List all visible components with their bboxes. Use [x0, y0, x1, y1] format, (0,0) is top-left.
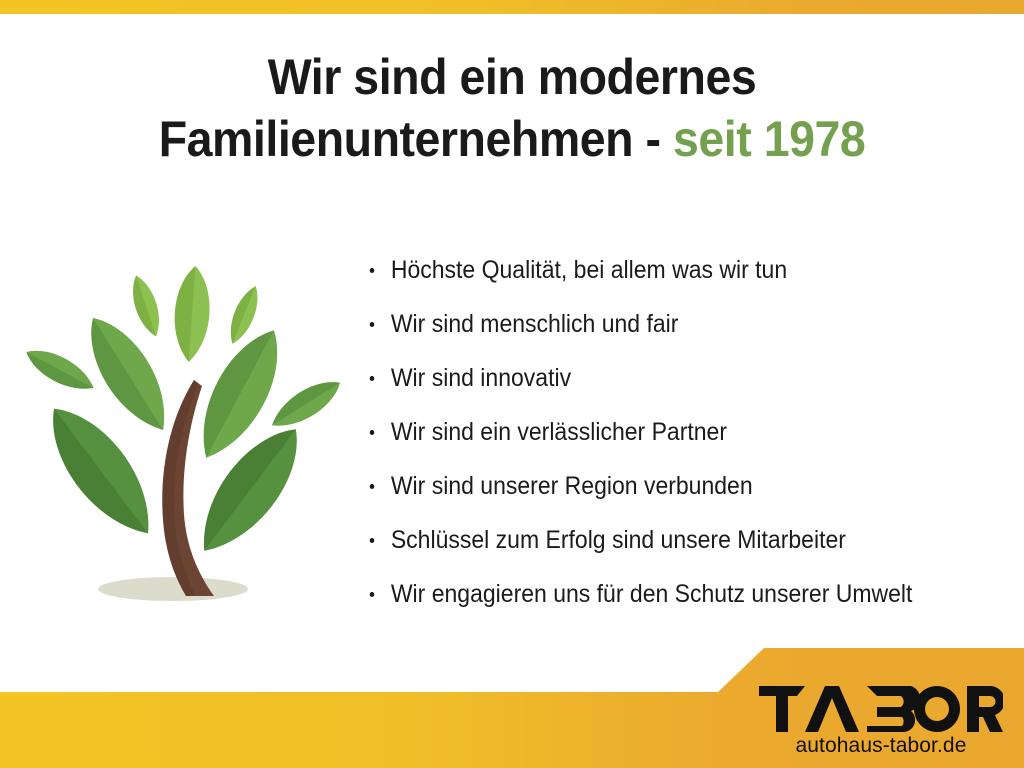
list-item: Wir engagieren uns für den Schutz unsere…	[366, 567, 964, 621]
footer-band: autohaus-tabor.de	[0, 640, 1024, 768]
list-item-label: Wir sind ein verlässlicher Partner	[391, 418, 727, 446]
list-item: Wir sind innovativ	[366, 351, 964, 405]
list-item: Wir sind ein verlässlicher Partner	[366, 405, 964, 459]
slide-canvas: Wir sind ein modernes Familienunternehme…	[0, 0, 1024, 768]
brand-website-url[interactable]: autohaus-tabor.de	[756, 734, 1006, 758]
list-item-label: Höchste Qualität, bei allem was wir tun	[391, 256, 787, 284]
page-title-accent: seit 1978	[673, 111, 865, 167]
leaf-far-left	[21, 341, 100, 399]
tree-shadow-ellipse	[98, 577, 248, 601]
list-item: Wir sind menschlich und fair	[366, 297, 964, 351]
leaf-upper-left	[73, 306, 182, 443]
list-item-label: Wir sind unserer Region verbunden	[391, 472, 753, 500]
brand-logo[interactable]: autohaus-tabor.de	[756, 686, 1006, 758]
tree-illustration	[18, 262, 348, 612]
list-item-label: Wir engagieren uns für den Schutz unsere…	[391, 580, 913, 608]
page-title-line-1: Wir sind ein modernes	[36, 46, 988, 108]
tabor-wordmark-icon	[759, 686, 1003, 732]
values-list: Höchste Qualität, bei allem was wir tun …	[366, 243, 1016, 621]
page-title-line-2: Familienunternehmen - seit 1978	[36, 108, 988, 170]
list-item: Wir sind unserer Region verbunden	[366, 459, 964, 513]
page-title: Wir sind ein modernes Familienunternehme…	[36, 46, 988, 170]
list-item-label: Schlüssel zum Erfolg sind unsere Mitarbe…	[391, 526, 846, 554]
leaf-top-center	[171, 265, 212, 363]
leaf-far-right	[265, 372, 347, 437]
list-item-label: Wir sind innovativ	[391, 364, 571, 392]
list-item-label: Wir sind menschlich und fair	[391, 310, 679, 338]
top-accent-bar	[0, 0, 1024, 14]
leaf-small-top-left	[126, 272, 166, 339]
list-item: Höchste Qualität, bei allem was wir tun	[366, 243, 964, 297]
page-title-line-2-plain: Familienunternehmen -	[159, 111, 673, 167]
leaf-lower-right	[183, 413, 318, 567]
list-item: Schlüssel zum Erfolg sind unsere Mitarbe…	[366, 513, 964, 567]
